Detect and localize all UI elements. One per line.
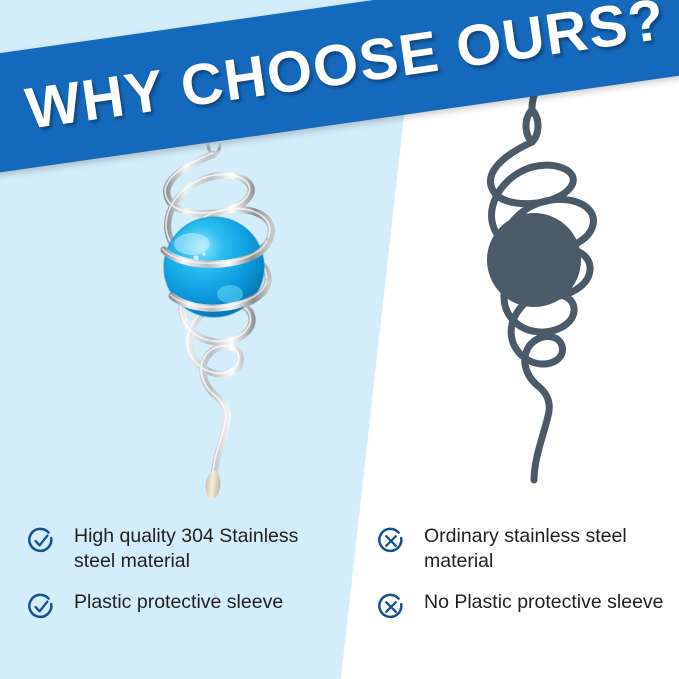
list-item: Plastic protective sleeve <box>26 590 352 622</box>
check-circle-icon <box>26 526 56 556</box>
infographic-canvas: WHY CHOOSE OURS? High quality 304 Stainl… <box>0 0 679 679</box>
check-circle-icon <box>26 592 56 622</box>
ours-feature-column: High quality 304 Stainless steel materia… <box>0 524 352 679</box>
comparison-feature-lists: High quality 304 Stainless steel materia… <box>0 524 679 679</box>
x-circle-icon <box>376 592 406 622</box>
x-circle-icon <box>376 526 406 556</box>
list-item: High quality 304 Stainless steel materia… <box>26 524 352 574</box>
list-item: Ordinary stainless steel material <box>376 524 679 574</box>
feature-label: No Plastic protective sleeve <box>424 590 664 615</box>
feature-label: Plastic protective sleeve <box>74 590 283 615</box>
feature-label: High quality 304 Stainless steel materia… <box>74 524 344 574</box>
feature-label: Ordinary stainless steel material <box>424 524 676 574</box>
list-item: No Plastic protective sleeve <box>376 590 679 622</box>
ordinary-feature-column: Ordinary stainless steel material No Pla… <box>352 524 679 679</box>
